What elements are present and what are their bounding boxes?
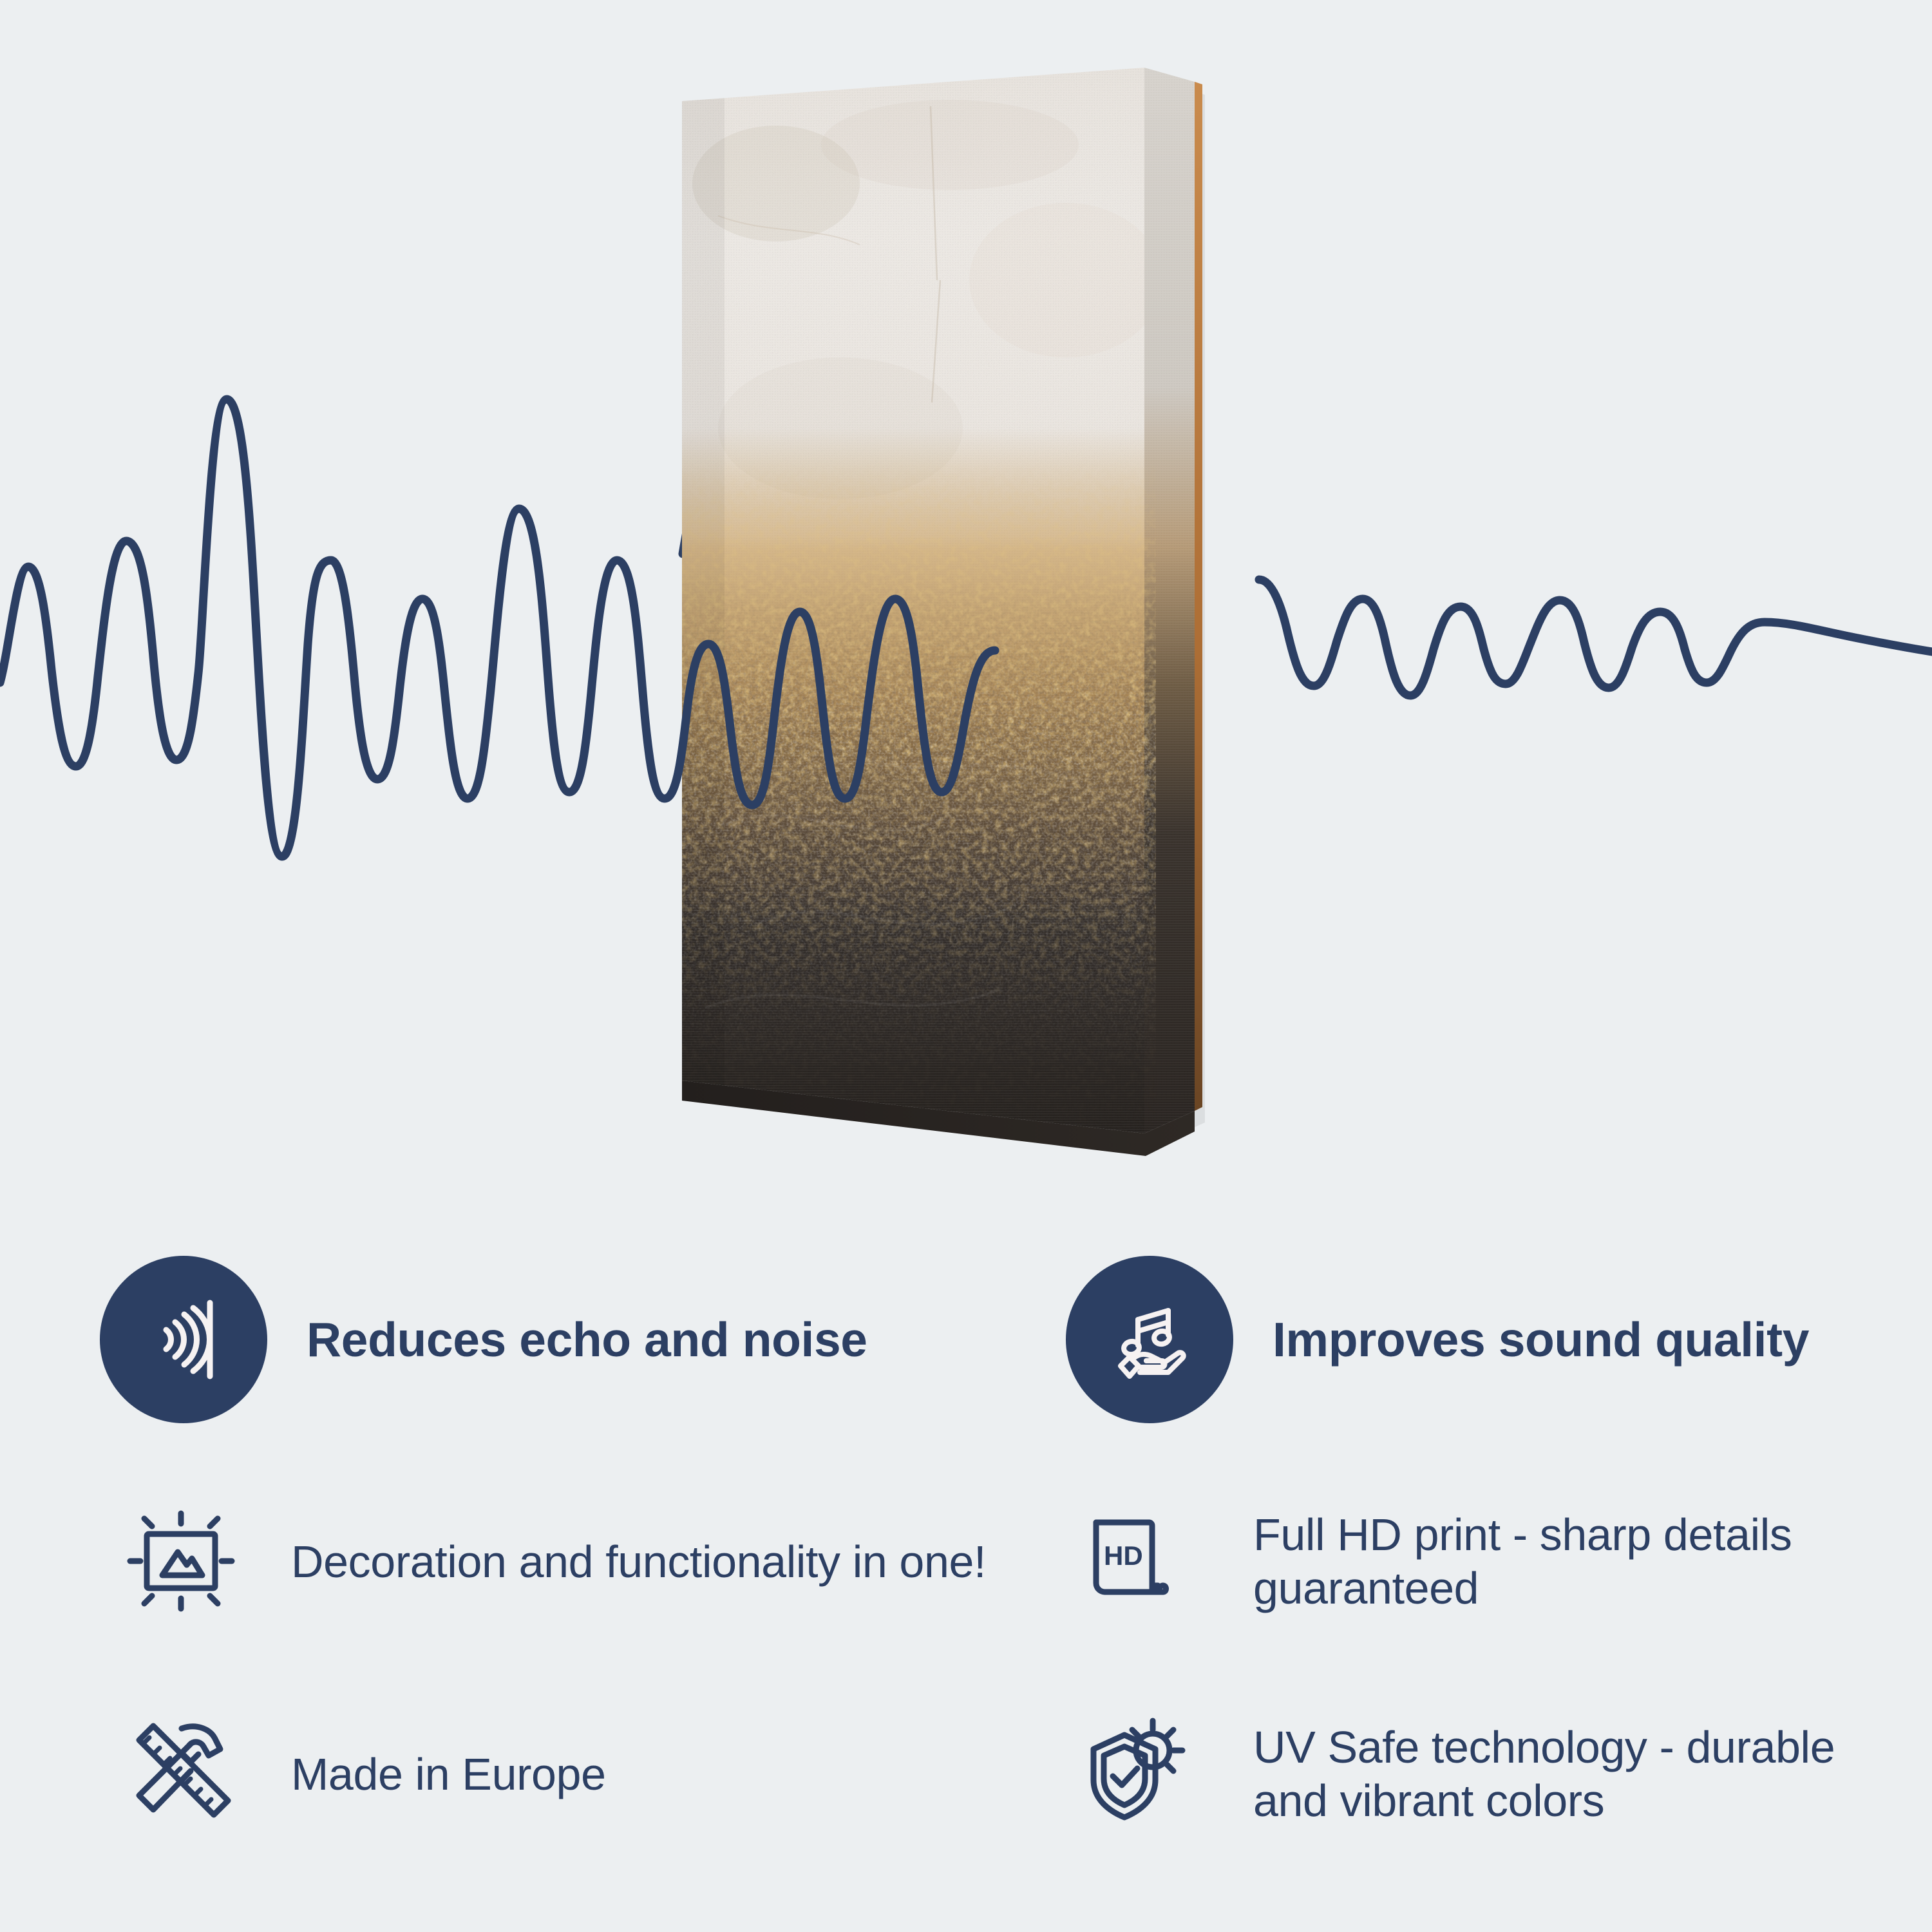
feature-label: Full HD print - sharp details guaranteed [1253,1508,1848,1615]
waveform-right-segment [1259,580,1932,696]
feature-label: Reduces echo and noise [307,1311,867,1368]
canvas-3d-render [679,68,1259,1233]
feature-icon-wrap [97,1253,270,1426]
feature-label: Decoration and functionality in one! [291,1535,986,1589]
hd-print-sheet-icon: HD [1082,1501,1204,1623]
feature-improves-sound: Improves sound quality [1063,1224,1848,1455]
feature-label: UV Safe technology - durable and vibrant… [1253,1721,1848,1827]
feature-made-in-europe: Made in Europe [97,1668,1063,1880]
feature-uv-safe: UV Safe technology - durable and vibrant… [1063,1668,1848,1880]
shining-picture-frame-icon [120,1501,242,1623]
music-note-hand-icon [1066,1256,1233,1423]
feature-label: Made in Europe [291,1748,606,1801]
canvas-artwork [679,68,1259,1233]
canvas-wood-edge [1195,82,1202,1111]
feature-icon-wrap [107,1488,255,1636]
shield-check-sun-icon [1082,1713,1204,1835]
feature-icon-wrap [1063,1253,1236,1426]
ruler-hammer-icon [120,1713,242,1835]
feature-label: Improves sound quality [1273,1311,1809,1368]
feature-list: Reduces echo and noise [0,1224,1932,1932]
hd-badge-text: HD [1104,1540,1143,1571]
feature-reduces-echo: Reduces echo and noise [97,1224,1063,1455]
feature-decoration: Decoration and functionality in one! [97,1455,1063,1668]
feature-icon-wrap: HD [1069,1488,1217,1636]
sound-wave-absorption-icon [100,1256,267,1423]
infographic-stage: Reduces echo and noise [0,0,1932,1932]
feature-icon-wrap [107,1700,255,1848]
feature-icon-wrap [1069,1700,1217,1848]
feature-hd-print: HD Full HD print - sharp details guarant… [1063,1455,1848,1668]
